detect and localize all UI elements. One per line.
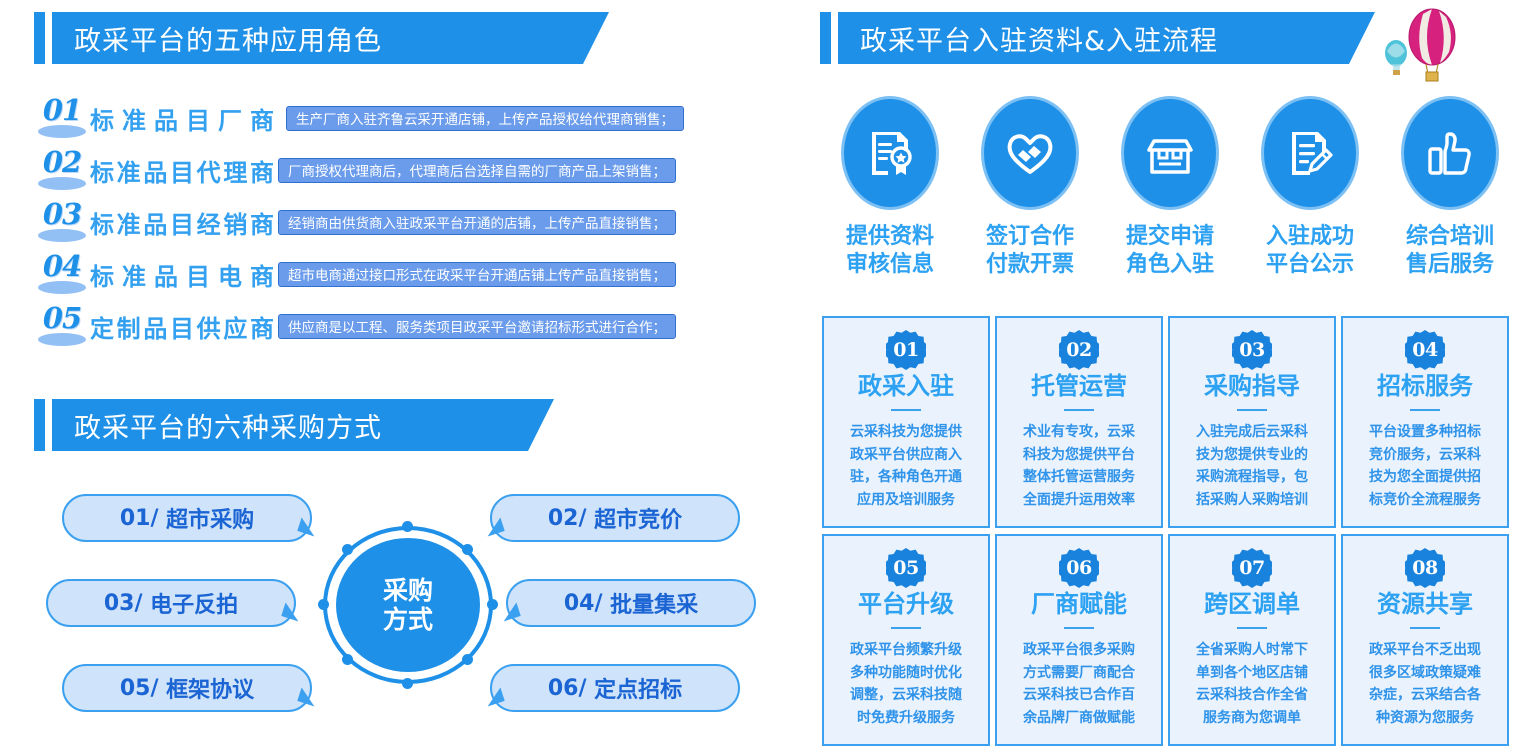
method-bubble-01[interactable]: 01/ 超市采购 <box>62 494 312 542</box>
role-number-text: 05 <box>34 301 90 335</box>
method-bubble-06[interactable]: 06/ 定点招标 <box>490 664 740 712</box>
thumbs-up-icon <box>1423 126 1477 180</box>
method-number: 02/ <box>548 506 587 531</box>
method-number: 04/ <box>564 591 603 616</box>
step-icon-disc <box>1121 96 1219 210</box>
hub-ring-dot <box>318 599 329 610</box>
card-number: 08 <box>1412 557 1437 579</box>
card-text-line: 服务商为您调单 <box>1177 707 1327 730</box>
roles-header-text: 政采平台的五种应用角色 <box>74 19 382 58</box>
role-row: 01 标准品目厂商 生产厂商入驻齐鲁云采开通店铺，上传产品授权给代理商销售； <box>34 92 794 144</box>
role-row: 03 标准品目经销商 经销商由供货商入驻政采平台开通的店铺，上传产品直接销售； <box>34 196 794 248</box>
card-text-line: 很多区域政策疑难 <box>1350 662 1500 685</box>
header-body: 政采平台的六种采购方式 <box>52 399 554 451</box>
card-title: 跨区调单 <box>1204 584 1300 619</box>
service-cards-grid: 01 政采入驻 云采科技为您提供 政采平台供应商入 驻，各种角色开通 应用及培训… <box>822 316 1508 746</box>
card-text-line: 杂症，云采结合各 <box>1350 684 1500 707</box>
method-number: 06/ <box>548 676 587 701</box>
role-description-tag: 超市电商通过接口形式在政采平台开通店铺上传产品直接销售； <box>278 262 676 287</box>
card-text-line: 入驻完成后云采科 <box>1177 421 1327 444</box>
role-number: 03 <box>34 199 90 245</box>
card-divider <box>1064 627 1094 629</box>
step-caption: 综合培训 售后服务 <box>1406 223 1494 278</box>
method-label: 超市采购 <box>166 502 254 534</box>
storefront-icon <box>1143 126 1197 180</box>
step-line2: 审核信息 <box>846 251 934 279</box>
card-badge: 08 <box>1405 548 1445 588</box>
card-title: 平台升级 <box>858 584 954 619</box>
certificate-icon <box>863 126 917 180</box>
card-title: 厂商赋能 <box>1031 584 1127 619</box>
card-text-line: 单到各个地区店铺 <box>1177 662 1327 685</box>
step-caption: 入驻成功 平台公示 <box>1266 223 1354 278</box>
card-body: 全省采购人时常下 单到各个地区店铺 云采科技合作全省 服务商为您调单 <box>1177 639 1327 730</box>
card-body: 入驻完成后云采科 技为您提供专业的 采购流程指导，包 括采购人采购培训 <box>1177 421 1327 512</box>
section-header-onboarding: 政采平台入驻资料&入驻流程 <box>820 12 1375 64</box>
card-text-line: 竞价服务，云采科 <box>1350 444 1500 467</box>
service-card[interactable]: 07 跨区调单 全省采购人时常下 单到各个地区店铺 云采科技合作全省 服务商为您… <box>1168 534 1336 746</box>
procurement-methods-diagram: 01/ 超市采购 03/ 电子反拍 05/ 框架协议 02/ 超市竞价 04/ … <box>46 492 806 722</box>
card-number: 01 <box>893 339 918 361</box>
step-line2: 售后服务 <box>1406 251 1494 279</box>
card-text-line: 多种功能随时优化 <box>831 662 981 685</box>
card-divider <box>1410 627 1440 629</box>
service-card[interactable]: 02 托管运营 术业有专攻，云采 科技为您提供平台 整体托管运营服务 全面提升运… <box>995 316 1163 528</box>
card-number: 04 <box>1412 339 1437 361</box>
card-number: 07 <box>1239 557 1264 579</box>
step-icon-disc <box>981 96 1079 210</box>
hub-ring-dot <box>402 521 413 532</box>
card-divider <box>1237 409 1267 411</box>
card-text-line: 政采平台频繁升级 <box>831 639 981 662</box>
hub-ring-dot <box>462 654 473 665</box>
card-badge: 03 <box>1232 330 1272 370</box>
header-accent-tick <box>34 399 45 451</box>
service-card[interactable]: 05 平台升级 政采平台频繁升级 多种功能随时优化 调整，云采科技随 时免费升级… <box>822 534 990 746</box>
role-title: 标准品目经销商 <box>90 205 278 240</box>
header-body: 政采平台入驻资料&入驻流程 <box>838 12 1375 64</box>
step-icon-disc <box>1261 96 1359 210</box>
card-number: 03 <box>1239 339 1264 361</box>
card-title: 托管运营 <box>1031 366 1127 401</box>
section-header-roles: 政采平台的五种应用角色 <box>34 12 609 64</box>
onboarding-step[interactable]: 提交申请 角色入驻 <box>1100 96 1240 278</box>
card-text-line: 种资源为您服务 <box>1350 707 1500 730</box>
header-body: 政采平台的五种应用角色 <box>52 12 609 64</box>
hub-core: 采购 方式 <box>336 538 480 672</box>
document-edit-icon <box>1283 126 1337 180</box>
card-number: 05 <box>893 557 918 579</box>
role-description-tag: 供应商是以工程、服务类项目政采平台邀请招标形式进行合作； <box>278 314 676 339</box>
service-card[interactable]: 06 厂商赋能 政采平台很多采购 方式需要厂商配合 云采科技已合作百 余品牌厂商… <box>995 534 1163 746</box>
role-description-tag: 厂商授权代理商后，代理商后台选择自需的厂商产品上架销售； <box>278 158 676 183</box>
hub-text-line2: 方式 <box>383 605 433 635</box>
header-gap <box>45 12 52 64</box>
role-title: 标准品目厂商 <box>90 101 278 136</box>
step-line1: 提交申请 <box>1126 223 1214 251</box>
card-text-line: 云采科技合作全省 <box>1177 684 1327 707</box>
step-line1: 综合培训 <box>1406 223 1494 251</box>
method-number: 01/ <box>120 506 159 531</box>
onboarding-step[interactable]: 提供资料 审核信息 <box>820 96 960 278</box>
role-number-text: 04 <box>34 249 90 283</box>
role-description-tag: 经销商由供货商入驻政采平台开通的店铺，上传产品直接销售； <box>278 210 676 235</box>
onboarding-step[interactable]: 综合培训 售后服务 <box>1380 96 1520 278</box>
method-label: 定点招标 <box>594 672 682 704</box>
card-text-line: 时免费升级服务 <box>831 707 981 730</box>
card-text-line: 驻，各种角色开通 <box>831 466 981 489</box>
card-text-line: 方式需要厂商配合 <box>1004 662 1154 685</box>
card-text-line: 应用及培训服务 <box>831 489 981 512</box>
step-line2: 角色入驻 <box>1126 251 1214 279</box>
method-label: 电子反拍 <box>150 587 238 619</box>
card-body: 政采平台很多采购 方式需要厂商配合 云采科技已合作百 余品牌厂商做赋能 <box>1004 639 1154 730</box>
onboarding-header-text: 政采平台入驻资料&入驻流程 <box>860 19 1218 58</box>
card-text-line: 余品牌厂商做赋能 <box>1004 707 1154 730</box>
card-text-line: 平台设置多种招标 <box>1350 421 1500 444</box>
card-divider <box>1064 409 1094 411</box>
step-caption: 提交申请 角色入驻 <box>1126 223 1214 278</box>
hot-air-balloon-icon <box>1409 9 1455 81</box>
card-number: 02 <box>1066 339 1091 361</box>
role-number-text: 01 <box>34 93 90 127</box>
card-text-line: 括采购人采购培训 <box>1177 489 1327 512</box>
card-divider <box>1237 627 1267 629</box>
handshake-heart-icon <box>1003 126 1057 180</box>
step-icon-disc <box>1401 96 1499 210</box>
method-label: 批量集采 <box>610 587 698 619</box>
role-title: 定制品目供应商 <box>90 309 278 344</box>
role-title: 标准品目电商 <box>90 257 278 292</box>
card-title: 采购指导 <box>1204 366 1300 401</box>
hub-ring-dot <box>487 599 498 610</box>
role-number: 05 <box>34 303 90 349</box>
method-label: 框架协议 <box>166 672 254 704</box>
method-number: 05/ <box>120 676 159 701</box>
infographic-page: 政采平台的五种应用角色 01 标准品目厂商 生产厂商入驻齐鲁云采开通店铺，上传产… <box>0 0 1529 752</box>
hub-ring-dot <box>402 678 413 689</box>
hub-ring-dot <box>342 544 353 555</box>
card-text-line: 全面提升运用效率 <box>1004 489 1154 512</box>
section-header-methods: 政采平台的六种采购方式 <box>34 399 554 451</box>
card-text-line: 云采科技为您提供 <box>831 421 981 444</box>
card-text-line: 政采平台供应商入 <box>831 444 981 467</box>
step-line1: 签订合作 <box>986 223 1074 251</box>
service-card[interactable]: 01 政采入驻 云采科技为您提供 政采平台供应商入 驻，各种角色开通 应用及培训… <box>822 316 990 528</box>
role-number: 02 <box>34 147 90 193</box>
method-bubble-05[interactable]: 05/ 框架协议 <box>62 664 312 712</box>
service-card[interactable]: 08 资源共享 政采平台不乏出现 很多区域政策疑难 杂症，云采结合各 种资源为您… <box>1341 534 1509 746</box>
card-body: 术业有专攻，云采 科技为您提供平台 整体托管运营服务 全面提升运用效率 <box>1004 421 1154 512</box>
card-badge: 04 <box>1405 330 1445 370</box>
hub-ring-dot <box>342 654 353 665</box>
card-badge: 05 <box>886 548 926 588</box>
card-divider <box>891 409 921 411</box>
method-label: 超市竞价 <box>594 502 682 534</box>
onboarding-step[interactable]: 签订合作 付款开票 <box>960 96 1100 278</box>
service-card[interactable]: 03 采购指导 入驻完成后云采科 技为您提供专业的 采购流程指导，包 括采购人采… <box>1168 316 1336 528</box>
header-gap <box>831 12 838 64</box>
onboarding-step[interactable]: 入驻成功 平台公示 <box>1240 96 1380 278</box>
method-bubble-02[interactable]: 02/ 超市竞价 <box>490 494 740 542</box>
onboarding-steps: 提供资料 审核信息 签订合作 付款开票 <box>820 96 1520 278</box>
card-badge: 06 <box>1059 548 1099 588</box>
card-number: 06 <box>1066 557 1091 579</box>
card-text-line: 全省采购人时常下 <box>1177 639 1327 662</box>
method-number: 03/ <box>104 591 143 616</box>
service-card[interactable]: 04 招标服务 平台设置多种招标 竞价服务，云采科 技为您全面提供招 标竞价全流… <box>1341 316 1509 528</box>
role-number: 01 <box>34 95 90 141</box>
role-row: 04 标准品目电商 超市电商通过接口形式在政采平台开通店铺上传产品直接销售； <box>34 248 794 300</box>
role-number: 04 <box>34 251 90 297</box>
card-title: 政采入驻 <box>858 366 954 401</box>
card-body: 政采平台不乏出现 很多区域政策疑难 杂症，云采结合各 种资源为您服务 <box>1350 639 1500 730</box>
methods-header-text: 政采平台的六种采购方式 <box>74 406 382 445</box>
card-divider <box>891 627 921 629</box>
methods-hub: 采购 方式 <box>323 526 493 684</box>
role-row: 02 标准品目代理商 厂商授权代理商后，代理商后台选择自需的厂商产品上架销售； <box>34 144 794 196</box>
card-text-line: 技为您提供专业的 <box>1177 444 1327 467</box>
card-text-line: 技为您全面提供招 <box>1350 466 1500 489</box>
step-caption: 提供资料 审核信息 <box>846 223 934 278</box>
method-bubble-04[interactable]: 04/ 批量集采 <box>506 579 756 627</box>
role-row: 05 定制品目供应商 供应商是以工程、服务类项目政采平台邀请招标形式进行合作； <box>34 300 794 352</box>
role-description-tag: 生产厂商入驻齐鲁云采开通店铺，上传产品授权给代理商销售； <box>286 106 684 131</box>
balloon-decoration <box>1382 6 1472 82</box>
roles-list: 01 标准品目厂商 生产厂商入驻齐鲁云采开通店铺，上传产品授权给代理商销售； 0… <box>34 92 794 352</box>
step-line1: 入驻成功 <box>1266 223 1354 251</box>
step-line1: 提供资料 <box>846 223 934 251</box>
card-text-line: 政采平台很多采购 <box>1004 639 1154 662</box>
card-text-line: 政采平台不乏出现 <box>1350 639 1500 662</box>
header-gap <box>45 399 52 451</box>
card-text-line: 整体托管运营服务 <box>1004 466 1154 489</box>
card-title: 资源共享 <box>1377 584 1473 619</box>
hub-ring-dot <box>462 544 473 555</box>
card-body: 云采科技为您提供 政采平台供应商入 驻，各种角色开通 应用及培训服务 <box>831 421 981 512</box>
card-text-line: 标竞价全流程服务 <box>1350 489 1500 512</box>
card-title: 招标服务 <box>1377 366 1473 401</box>
hot-air-balloon-small-icon <box>1385 40 1407 75</box>
card-text-line: 云采科技已合作百 <box>1004 684 1154 707</box>
card-text-line: 采购流程指导，包 <box>1177 466 1327 489</box>
card-body: 平台设置多种招标 竞价服务，云采科 技为您全面提供招 标竞价全流程服务 <box>1350 421 1500 512</box>
header-accent-tick <box>34 12 45 64</box>
method-bubble-03[interactable]: 03/ 电子反拍 <box>46 579 296 627</box>
role-title: 标准品目代理商 <box>90 153 278 188</box>
header-accent-tick <box>820 12 831 64</box>
card-badge: 02 <box>1059 330 1099 370</box>
step-caption: 签订合作 付款开票 <box>986 223 1074 278</box>
step-line2: 付款开票 <box>986 251 1074 279</box>
card-text-line: 术业有专攻，云采 <box>1004 421 1154 444</box>
card-body: 政采平台频繁升级 多种功能随时优化 调整，云采科技随 时免费升级服务 <box>831 639 981 730</box>
role-number-text: 02 <box>34 145 90 179</box>
step-icon-disc <box>841 96 939 210</box>
step-line2: 平台公示 <box>1266 251 1354 279</box>
hub-text-line1: 采购 <box>383 576 433 606</box>
card-text-line: 科技为您提供平台 <box>1004 444 1154 467</box>
card-divider <box>1410 409 1440 411</box>
card-badge: 01 <box>886 330 926 370</box>
card-badge: 07 <box>1232 548 1272 588</box>
role-number-text: 03 <box>34 197 90 231</box>
card-text-line: 调整，云采科技随 <box>831 684 981 707</box>
